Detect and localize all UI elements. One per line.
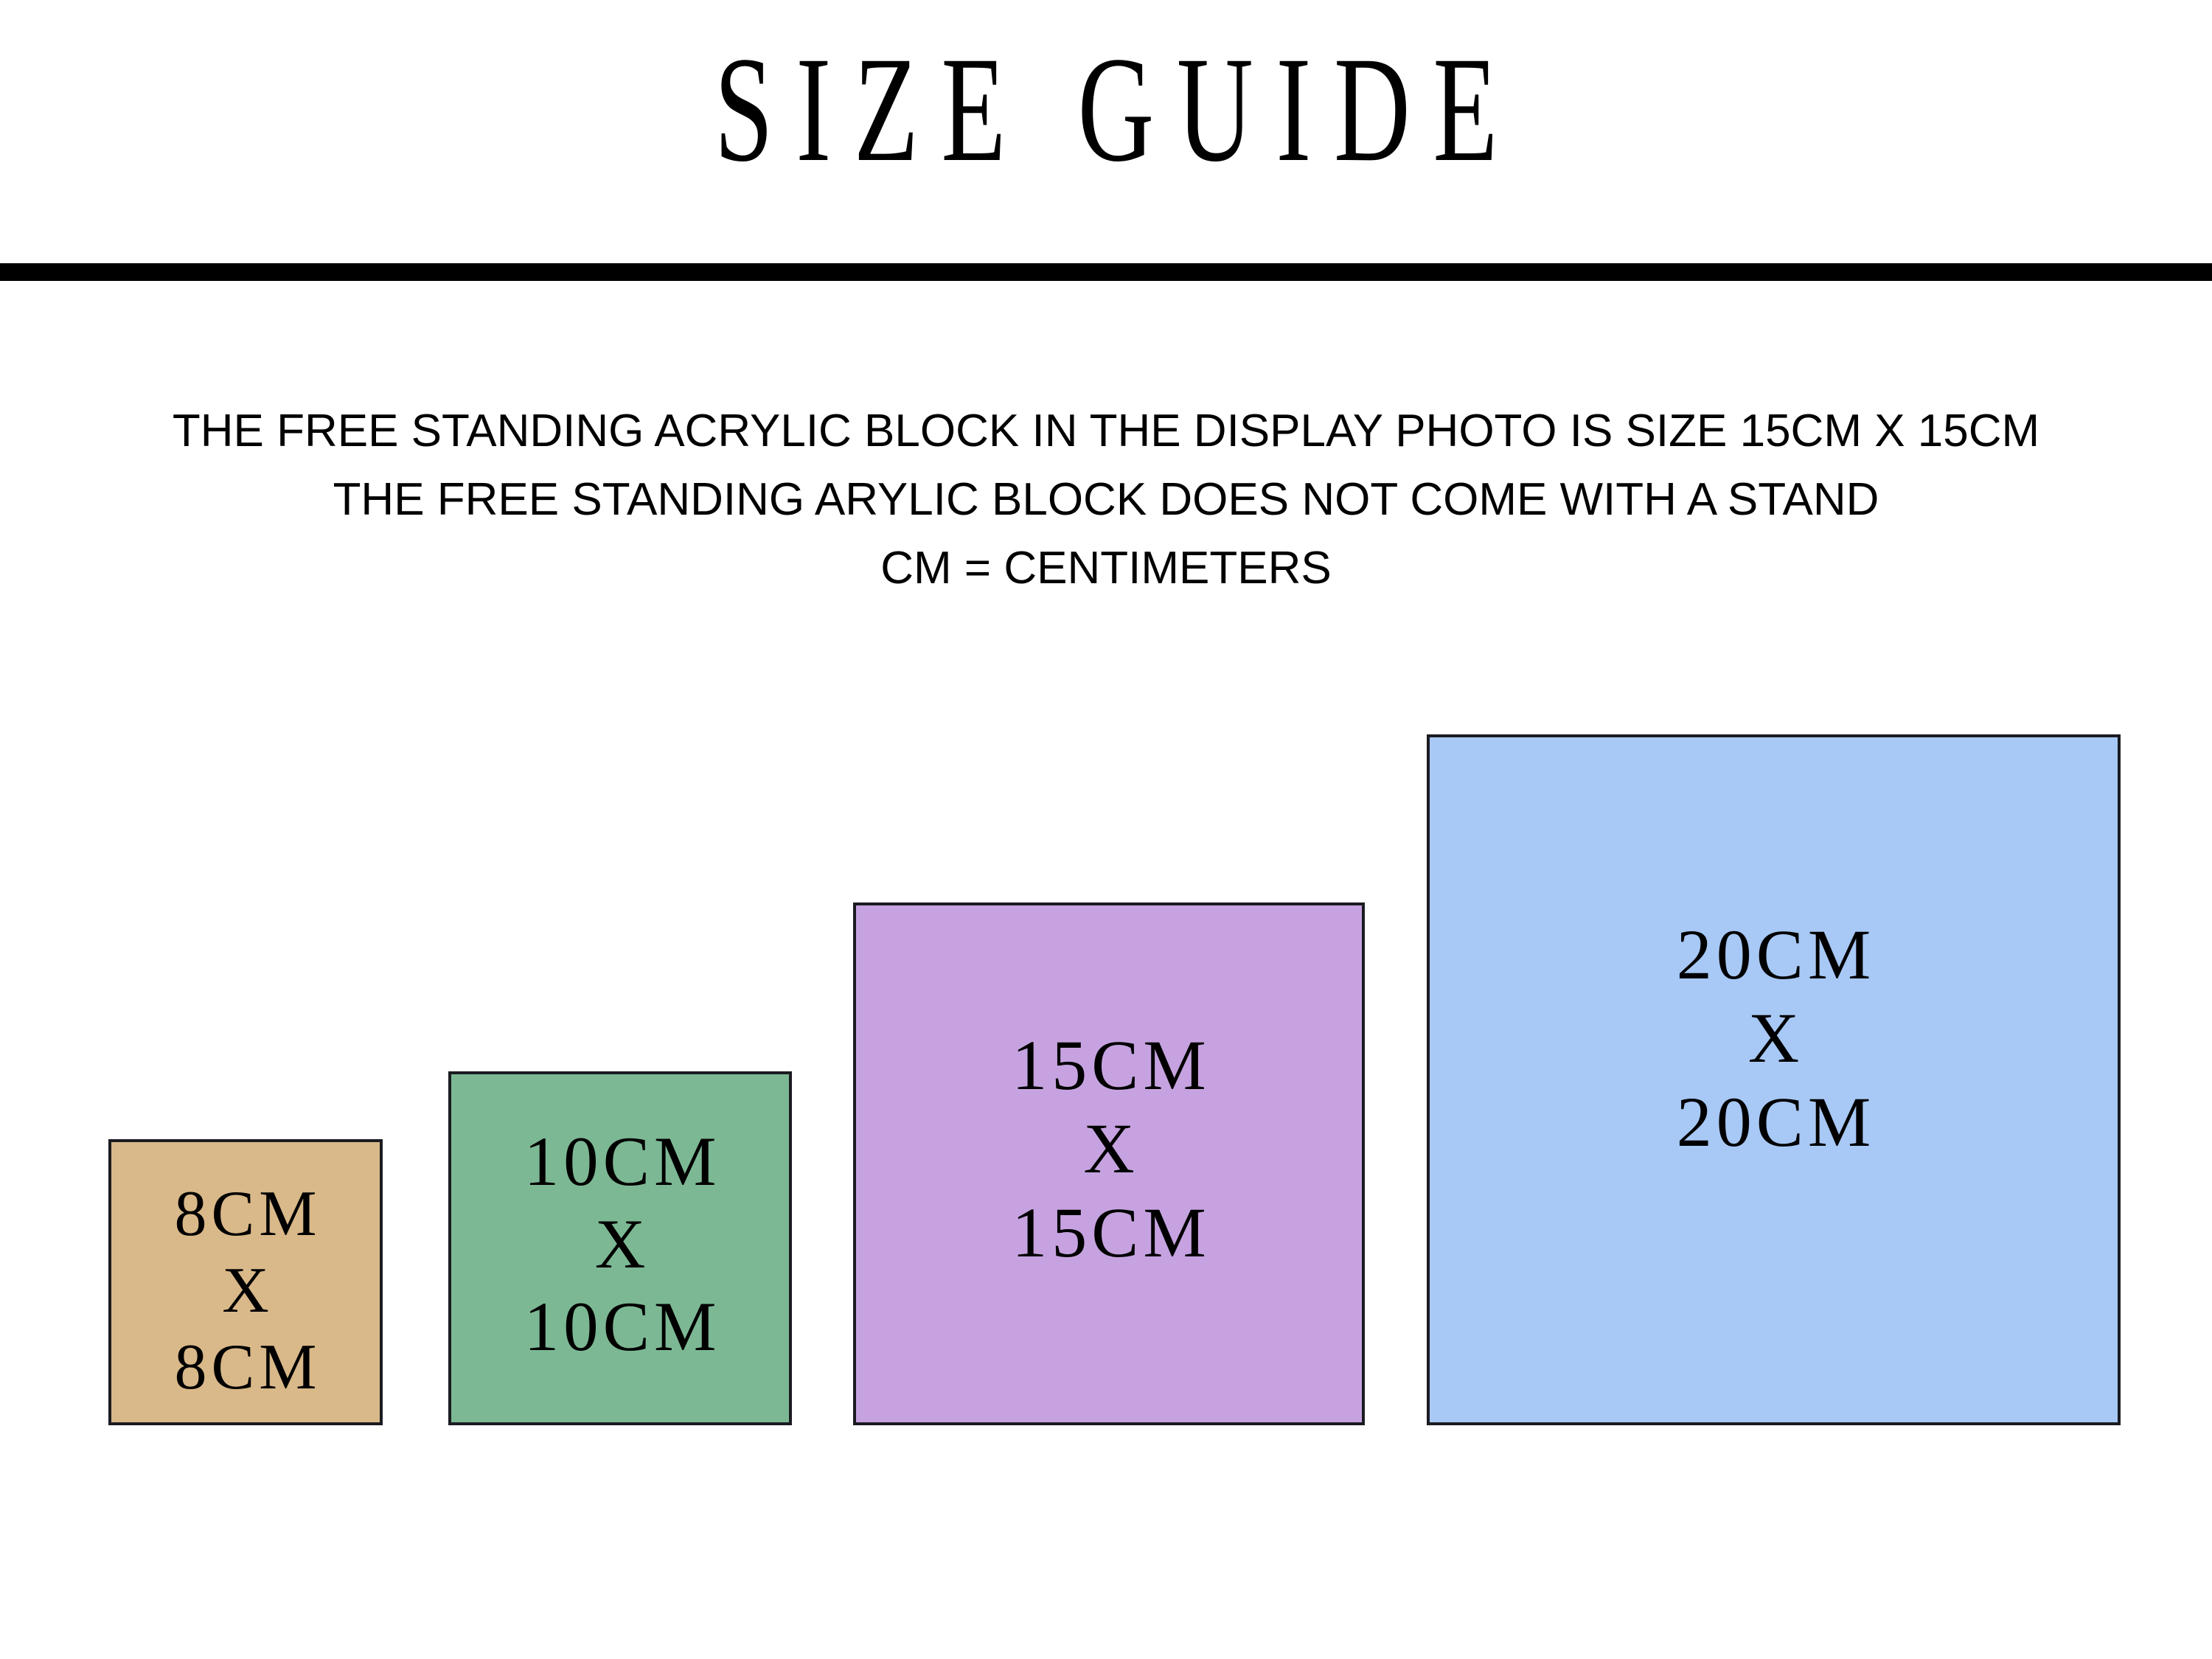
size-swatch-8cm-label-line-3: 8CM (170, 1329, 321, 1406)
size-swatch-10cm: 10CM X 10CM (448, 1071, 792, 1425)
size-swatch-20cm-label-line-1: 20CM (1672, 913, 1875, 996)
size-swatch-8cm-label-line-2: X (170, 1253, 321, 1329)
size-swatch-8cm: 8CM X 8CM (108, 1139, 383, 1425)
size-swatch-8cm-label: 8CM X 8CM (170, 1176, 321, 1405)
size-swatch-10cm-label: 10CM X 10CM (520, 1120, 721, 1368)
size-swatch-15cm-label-line-3: 15CM (1007, 1191, 1210, 1274)
size-swatch-20cm-label: 20CM X 20CM (1672, 913, 1875, 1164)
size-swatch-15cm-label: 15CM X 15CM (1007, 1023, 1210, 1274)
size-comparison-chart: 8CM X 8CM 10CM X 10CM 15CM X 15CM 20CM X… (0, 0, 2212, 1659)
size-swatch-15cm-label-line-2: X (1007, 1107, 1210, 1190)
size-swatch-20cm-label-line-2: X (1672, 996, 1875, 1079)
size-swatch-10cm-label-line-1: 10CM (520, 1120, 721, 1203)
size-swatch-10cm-label-line-3: 10CM (520, 1285, 721, 1368)
size-swatch-15cm-label-line-1: 15CM (1007, 1023, 1210, 1107)
size-swatch-10cm-label-line-2: X (520, 1203, 721, 1285)
size-swatch-20cm: 20CM X 20CM (1427, 734, 2121, 1425)
size-swatch-8cm-label-line-1: 8CM (170, 1176, 321, 1253)
size-swatch-15cm: 15CM X 15CM (853, 902, 1365, 1425)
size-swatch-20cm-label-line-3: 20CM (1672, 1080, 1875, 1164)
